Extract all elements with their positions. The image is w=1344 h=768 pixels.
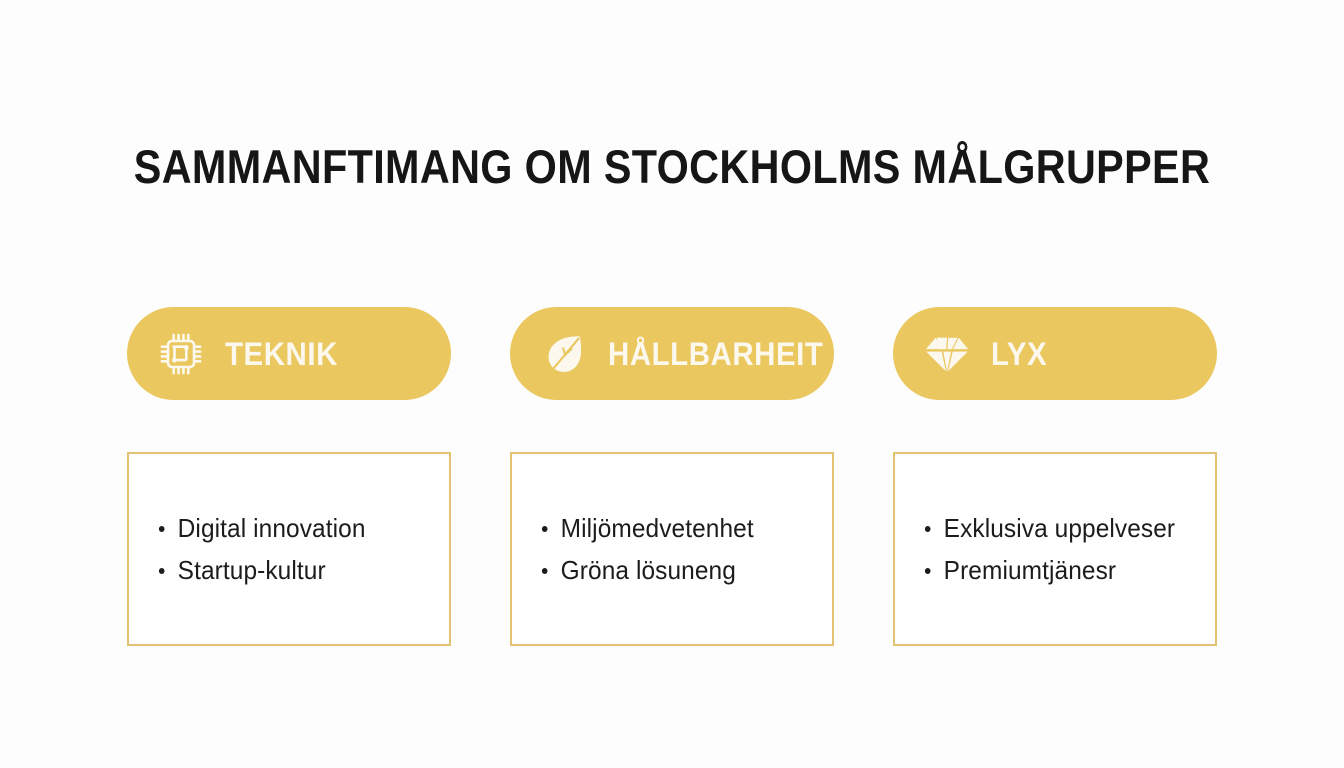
category-column-teknik: TEKNIK Digital innovation Startup-kultur	[127, 307, 451, 646]
category-header-teknik[interactable]: TEKNIK	[127, 307, 451, 400]
category-column-lyx: LYX Exklusiva uppelveser Premiumtjänesr	[893, 307, 1217, 646]
category-label: HÅLLBARHEIT	[608, 337, 823, 371]
category-label: TEKNIK	[225, 337, 338, 371]
bullet-list: Digital innovation Startup-kultur	[157, 507, 449, 591]
bullet-list: Exklusiva uppelveser Premiumtjänesr	[923, 507, 1215, 591]
slide-canvas: SAMMANFTIMANG OM STOCKHOLMS MÅLGRUPPER	[0, 0, 1344, 768]
diamond-icon	[921, 328, 973, 380]
microchip-icon	[155, 328, 207, 380]
category-header-hallbarheit[interactable]: HÅLLBARHEIT	[510, 307, 834, 400]
category-card-teknik: Digital innovation Startup-kultur	[127, 452, 451, 646]
leaf-icon	[538, 328, 590, 380]
list-item: Digital innovation	[157, 507, 431, 549]
page-title: SAMMANFTIMANG OM STOCKHOLMS MÅLGRUPPER	[81, 139, 1264, 195]
category-card-lyx: Exklusiva uppelveser Premiumtjänesr	[893, 452, 1217, 646]
category-header-lyx[interactable]: LYX	[893, 307, 1217, 400]
list-item: Exklusiva uppelveser	[923, 507, 1197, 549]
category-column-hallbarheit: HÅLLBARHEIT Miljömedvetenhet Gröna lösun…	[510, 307, 834, 646]
list-item: Miljömedvetenhet	[540, 507, 814, 549]
category-label: LYX	[991, 337, 1047, 371]
category-columns: TEKNIK Digital innovation Startup-kultur	[127, 307, 1217, 646]
list-item: Premiumtjänesr	[923, 549, 1197, 591]
bullet-list: Miljömedvetenhet Gröna lösuneng	[540, 507, 832, 591]
list-item: Startup-kultur	[157, 549, 431, 591]
category-card-hallbarheit: Miljömedvetenhet Gröna lösuneng	[510, 452, 834, 646]
list-item: Gröna lösuneng	[540, 549, 814, 591]
